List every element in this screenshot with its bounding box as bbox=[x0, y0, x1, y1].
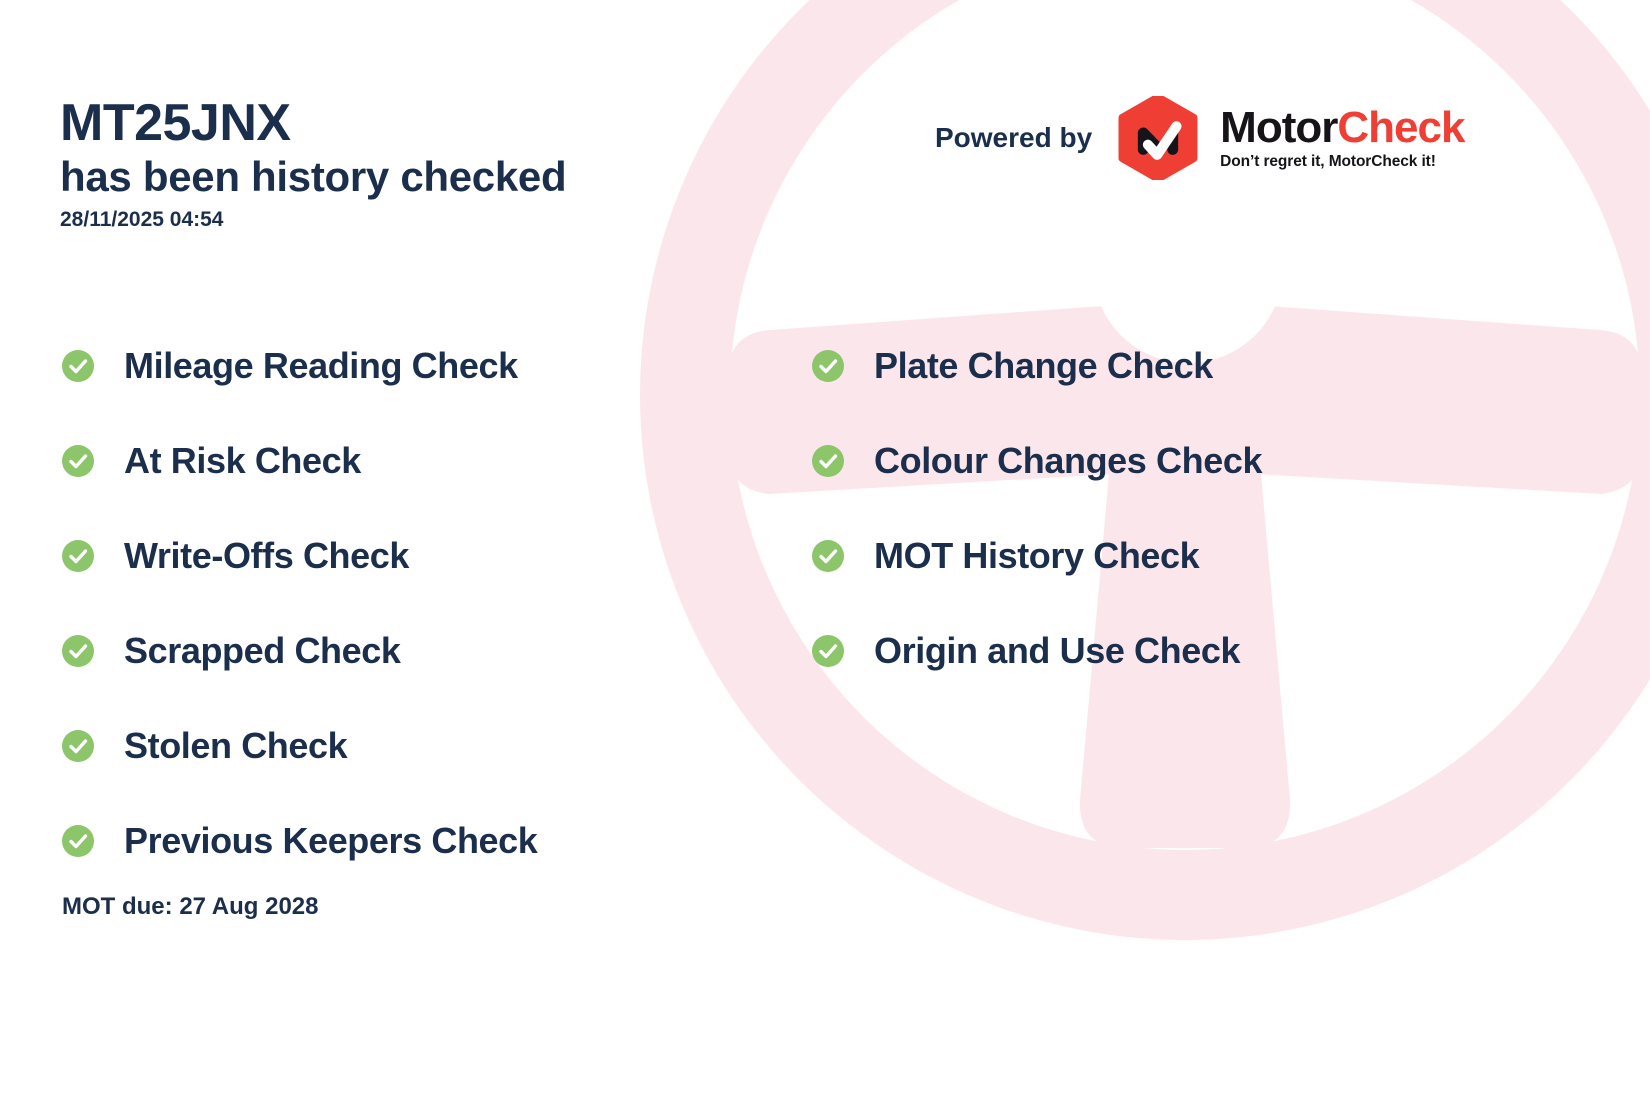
wordmark-text: MotorCheck bbox=[1220, 106, 1464, 150]
check-circle-icon bbox=[62, 350, 94, 382]
check-circle-icon bbox=[62, 635, 94, 667]
powered-by-brand-block: Powered by MotorCheck Don’t regret it, M… bbox=[935, 96, 1464, 180]
mot-due-date: MOT due: 27 Aug 2028 bbox=[62, 893, 319, 921]
checks-left-column: Mileage Reading Check At Risk Check Writ… bbox=[62, 318, 537, 888]
page-title: has been history checked bbox=[60, 153, 566, 200]
check-item: MOT History Check bbox=[812, 508, 1262, 603]
check-item: Origin and Use Check bbox=[812, 603, 1262, 698]
wordmark-check: Check bbox=[1337, 103, 1464, 152]
history-check-summary-card: MT25JNX has been history checked 28/11/2… bbox=[0, 0, 1650, 1100]
check-item: Write-Offs Check bbox=[62, 508, 537, 603]
check-circle-icon bbox=[812, 445, 844, 477]
card-header: MT25JNX has been history checked 28/11/2… bbox=[60, 96, 566, 232]
check-circle-icon bbox=[62, 540, 94, 572]
check-circle-icon bbox=[62, 445, 94, 477]
check-circle-icon bbox=[812, 350, 844, 382]
check-item: Stolen Check bbox=[62, 698, 537, 793]
check-circle-icon bbox=[62, 825, 94, 857]
check-item-label: Plate Change Check bbox=[874, 345, 1213, 387]
check-item: Colour Changes Check bbox=[812, 413, 1262, 508]
check-item: Previous Keepers Check bbox=[62, 793, 537, 888]
check-item-label: Mileage Reading Check bbox=[124, 345, 518, 387]
powered-by-label: Powered by bbox=[935, 122, 1092, 154]
check-item-label: At Risk Check bbox=[124, 440, 361, 482]
wordmark-motor: Motor bbox=[1220, 103, 1337, 152]
check-item: Scrapped Check bbox=[62, 603, 537, 698]
checks-right-column: Plate Change Check Colour Changes Check … bbox=[812, 318, 1262, 698]
check-item-label: Scrapped Check bbox=[124, 630, 401, 672]
check-item-label: Stolen Check bbox=[124, 725, 347, 767]
check-circle-icon bbox=[62, 730, 94, 762]
check-item-label: MOT History Check bbox=[874, 535, 1199, 577]
check-item: Mileage Reading Check bbox=[62, 318, 537, 413]
check-item-label: Write-Offs Check bbox=[124, 535, 409, 577]
check-timestamp: 28/11/2025 04:54 bbox=[60, 208, 566, 232]
check-item-label: Colour Changes Check bbox=[874, 440, 1262, 482]
vehicle-registration: MT25JNX bbox=[60, 96, 566, 151]
check-item: Plate Change Check bbox=[812, 318, 1262, 413]
check-circle-icon bbox=[812, 635, 844, 667]
brand-tagline: Don’t regret it, MotorCheck it! bbox=[1220, 153, 1464, 171]
check-circle-icon bbox=[812, 540, 844, 572]
motorcheck-wordmark: MotorCheck Don’t regret it, MotorCheck i… bbox=[1220, 106, 1464, 171]
motorcheck-hexagon-logo-icon bbox=[1116, 96, 1200, 180]
check-item-label: Origin and Use Check bbox=[874, 630, 1240, 672]
check-item-label: Previous Keepers Check bbox=[124, 820, 537, 862]
check-item: At Risk Check bbox=[62, 413, 537, 508]
